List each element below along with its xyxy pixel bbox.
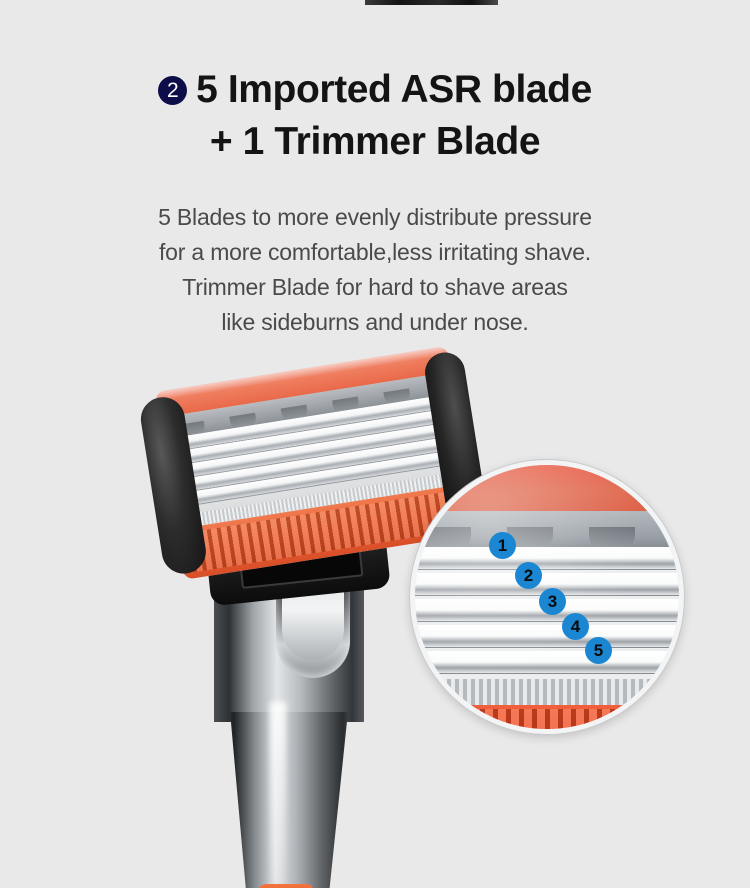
headline-line-1: 25 Imported ASR blade bbox=[0, 64, 750, 116]
headline: 25 Imported ASR blade + 1 Trimmer Blade bbox=[0, 64, 750, 168]
headline-line-2: + 1 Trimmer Blade bbox=[0, 116, 750, 168]
blade-callout-4: 4 bbox=[562, 613, 589, 640]
magnified-blade-1 bbox=[415, 547, 679, 569]
magnified-blade-5 bbox=[415, 651, 679, 673]
handle-grip bbox=[258, 884, 314, 888]
handle-shaft bbox=[222, 712, 356, 888]
blade-callout-2: 2 bbox=[515, 562, 542, 589]
product-feature-section: 25 Imported ASR blade + 1 Trimmer Blade … bbox=[0, 0, 750, 888]
blade-magnifier: 1 2 3 4 5 bbox=[410, 460, 684, 734]
blade-callout-5: 5 bbox=[585, 637, 612, 664]
body-copy: 5 Blades to more evenly distribute press… bbox=[0, 200, 750, 340]
magnified-lubrication-strip bbox=[415, 465, 679, 511]
step-number-badge: 2 bbox=[158, 76, 187, 105]
blade-callout-3: 3 bbox=[539, 588, 566, 615]
magnified-guard-bar bbox=[415, 511, 679, 547]
razor-photo: 1 2 3 4 5 bbox=[0, 350, 750, 888]
magnified-trimmer-comb bbox=[415, 679, 679, 705]
magnified-blade-4 bbox=[415, 625, 679, 647]
body-line-1: 5 Blades to more evenly distribute press… bbox=[0, 200, 750, 235]
previous-section-edge bbox=[365, 0, 498, 5]
body-line-2: for a more comfortable,less irritating s… bbox=[0, 235, 750, 270]
razor-handle bbox=[196, 572, 386, 888]
magnified-elastomer-fins bbox=[415, 705, 679, 734]
headline-text-1: 5 Imported ASR blade bbox=[196, 68, 592, 111]
body-line-3: Trimmer Blade for hard to shave areas bbox=[0, 270, 750, 305]
handle-highlight bbox=[270, 702, 286, 888]
body-line-4: like sideburns and under nose. bbox=[0, 305, 750, 340]
blade-callout-1: 1 bbox=[489, 532, 516, 559]
